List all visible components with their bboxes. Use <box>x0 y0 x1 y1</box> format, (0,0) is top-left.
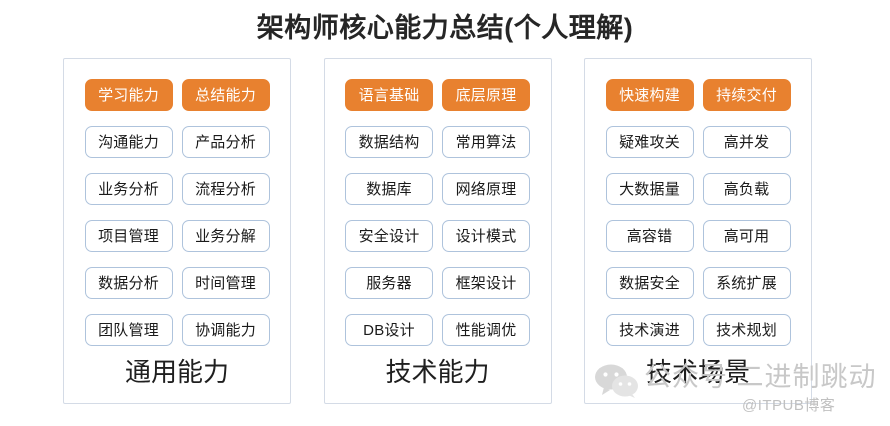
tag-item[interactable]: 持续交付 <box>703 79 791 111</box>
tag-item[interactable]: 性能调优 <box>442 314 530 346</box>
panel-label: 通用能力 <box>64 357 290 387</box>
tag-item[interactable]: 协调能力 <box>182 314 270 346</box>
tag-item[interactable]: 常用算法 <box>442 126 530 158</box>
tag-item[interactable]: 数据分析 <box>85 267 173 299</box>
tag-item[interactable]: 业务分析 <box>85 173 173 205</box>
tag-item[interactable]: 服务器 <box>345 267 433 299</box>
tag-item[interactable]: 疑难攻关 <box>606 126 694 158</box>
tag-item[interactable]: DB设计 <box>345 314 433 346</box>
tag-item[interactable]: 业务分解 <box>182 220 270 252</box>
tag-item[interactable]: 安全设计 <box>345 220 433 252</box>
tag-item[interactable]: 数据安全 <box>606 267 694 299</box>
tag-item[interactable]: 高并发 <box>703 126 791 158</box>
tag-item[interactable]: 总结能力 <box>182 79 270 111</box>
tag-item[interactable]: 设计模式 <box>442 220 530 252</box>
tag-grid: 学习能力总结能力沟通能力产品分析业务分析流程分析项目管理业务分解数据分析时间管理… <box>85 79 270 346</box>
tag-item[interactable]: 快速构建 <box>606 79 694 111</box>
tag-item[interactable]: 沟通能力 <box>85 126 173 158</box>
column-container: 学习能力总结能力沟通能力产品分析业务分析流程分析项目管理业务分解数据分析时间管理… <box>63 58 812 404</box>
tag-item[interactable]: 技术规划 <box>703 314 791 346</box>
tag-item[interactable]: 数据结构 <box>345 126 433 158</box>
tag-item[interactable]: 高可用 <box>703 220 791 252</box>
tag-item[interactable]: 数据库 <box>345 173 433 205</box>
tag-item[interactable]: 高容错 <box>606 220 694 252</box>
tag-item[interactable]: 产品分析 <box>182 126 270 158</box>
tag-item[interactable]: 流程分析 <box>182 173 270 205</box>
tag-item[interactable]: 网络原理 <box>442 173 530 205</box>
panel-label: 技术场景 <box>585 357 811 387</box>
tag-item[interactable]: 时间管理 <box>182 267 270 299</box>
tag-item[interactable]: 项目管理 <box>85 220 173 252</box>
panel-technical-ability: 语言基础底层原理数据结构常用算法数据库网络原理安全设计设计模式服务器框架设计DB… <box>324 58 552 404</box>
slide-canvas: 架构师核心能力总结(个人理解) 学习能力总结能力沟通能力产品分析业务分析流程分析… <box>0 0 890 426</box>
tag-item[interactable]: 学习能力 <box>85 79 173 111</box>
panel-general-ability: 学习能力总结能力沟通能力产品分析业务分析流程分析项目管理业务分解数据分析时间管理… <box>63 58 291 404</box>
tag-item[interactable]: 底层原理 <box>442 79 530 111</box>
tag-item[interactable]: 高负载 <box>703 173 791 205</box>
panel-technical-scenario: 快速构建持续交付疑难攻关高并发大数据量高负载高容错高可用数据安全系统扩展技术演进… <box>584 58 812 404</box>
tag-item[interactable]: 框架设计 <box>442 267 530 299</box>
tag-item[interactable]: 大数据量 <box>606 173 694 205</box>
page-title: 架构师核心能力总结(个人理解) <box>0 10 890 46</box>
tag-item[interactable]: 语言基础 <box>345 79 433 111</box>
tag-item[interactable]: 技术演进 <box>606 314 694 346</box>
tag-grid: 语言基础底层原理数据结构常用算法数据库网络原理安全设计设计模式服务器框架设计DB… <box>345 79 530 346</box>
tag-item[interactable]: 团队管理 <box>85 314 173 346</box>
panel-label: 技术能力 <box>325 357 551 387</box>
tag-grid: 快速构建持续交付疑难攻关高并发大数据量高负载高容错高可用数据安全系统扩展技术演进… <box>606 79 791 346</box>
tag-item[interactable]: 系统扩展 <box>703 267 791 299</box>
